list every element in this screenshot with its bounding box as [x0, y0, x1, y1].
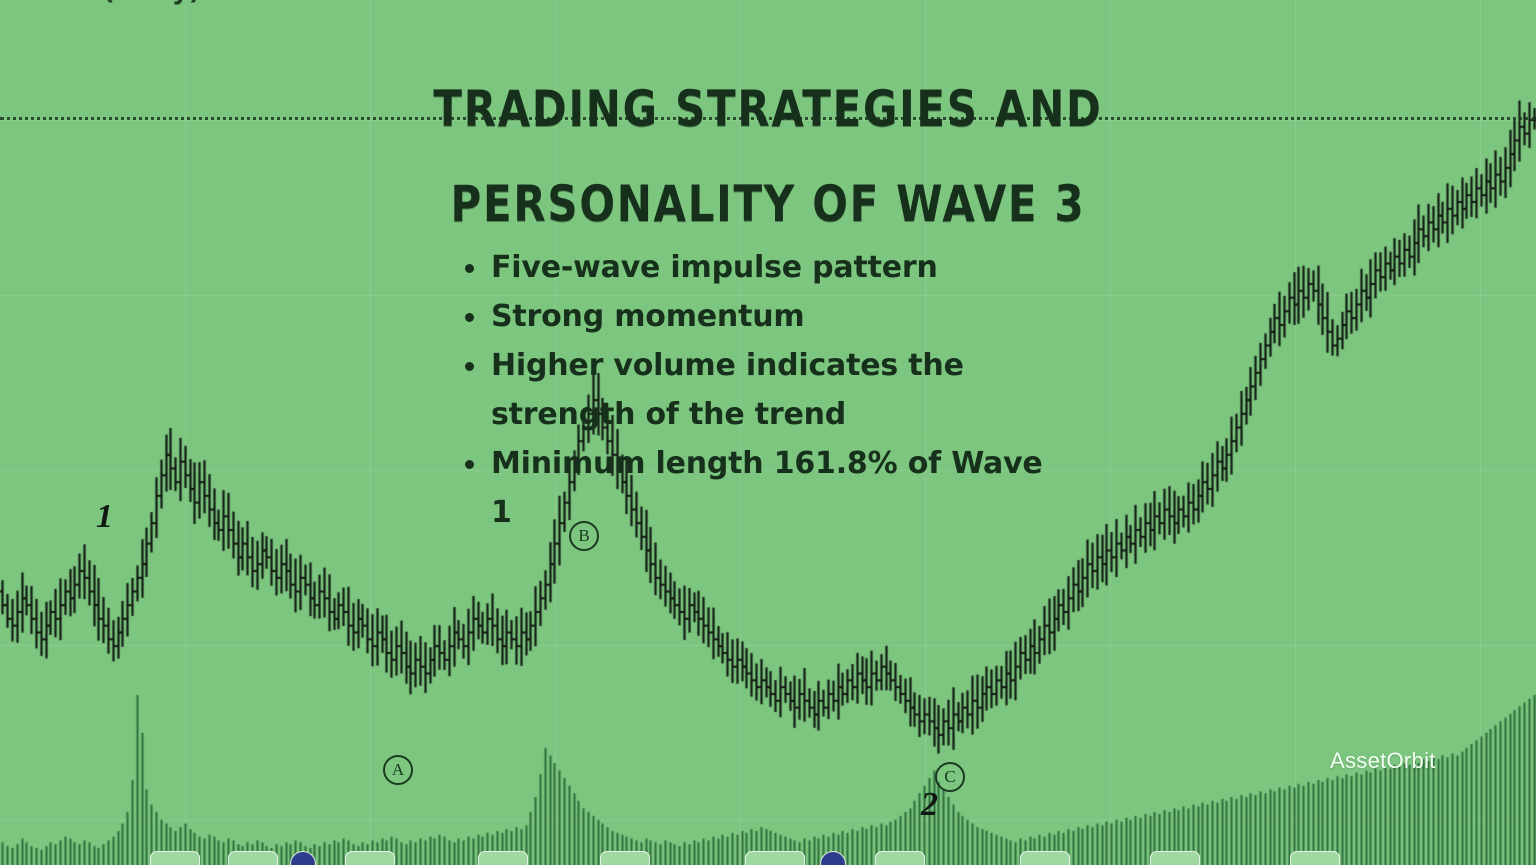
- slide-canvas: AAPL (Daily) Trading Strategies and Pers…: [0, 0, 1536, 865]
- title-line-2: Personality of Wave 3: [123, 157, 1413, 252]
- wave-label-2: 2: [921, 788, 938, 822]
- wave-label-b: B: [569, 521, 599, 551]
- wave-label-c: C: [935, 762, 965, 792]
- toolbar-button[interactable]: [150, 851, 200, 865]
- page-title: Trading Strategies and Personality of Wa…: [0, 62, 1536, 252]
- toolbar-button[interactable]: [345, 851, 395, 865]
- toolbar-button[interactable]: [745, 851, 805, 865]
- bullet-item: Higher volume indicates the strength of …: [491, 341, 1055, 439]
- toolbar-button[interactable]: [600, 851, 650, 865]
- toolbar-circle-button[interactable]: [290, 851, 316, 865]
- bullet-list: Five-wave impulse patternStrong momentum…: [455, 243, 1055, 537]
- toolbar-button[interactable]: [875, 851, 925, 865]
- clipped-symbol-label: AAPL (Daily): [18, 0, 201, 6]
- bottom-toolbar[interactable]: [0, 851, 1536, 865]
- toolbar-button[interactable]: [1020, 851, 1070, 865]
- toolbar-button[interactable]: [1290, 851, 1340, 865]
- watermark: AssetOrbit: [1330, 748, 1436, 774]
- toolbar-button[interactable]: [1150, 851, 1200, 865]
- title-line-1: Trading Strategies and: [123, 62, 1413, 157]
- toolbar-circle-button[interactable]: [820, 851, 846, 865]
- bullet-item: Strong momentum: [491, 292, 1055, 341]
- bullet-item: Five-wave impulse pattern: [491, 243, 1055, 292]
- toolbar-button[interactable]: [478, 851, 528, 865]
- wave-label-1: 1: [96, 500, 113, 534]
- wave-label-a: A: [383, 755, 413, 785]
- toolbar-button[interactable]: [228, 851, 278, 865]
